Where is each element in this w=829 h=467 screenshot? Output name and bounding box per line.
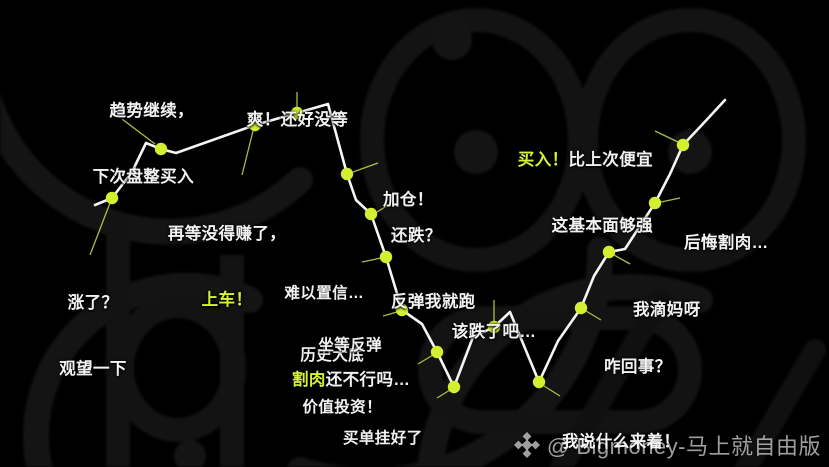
annotation-a11: 该跌了吧… bbox=[434, 278, 554, 388]
annotation-a15-line1: 后悔割肉… bbox=[684, 233, 769, 255]
annotation-a1-line1: 趋势继续， bbox=[34, 101, 194, 123]
annotation-a9-part2: 还不行吗… bbox=[326, 371, 411, 389]
annotation-a16-part2: 比上次便宜 bbox=[569, 151, 654, 169]
annotation-a11-line1: 该跌了吧… bbox=[434, 322, 554, 344]
binance-diamond-icon bbox=[514, 432, 540, 458]
annotation-a16-part1: 买入！ bbox=[518, 151, 569, 169]
annotation-a3-line1: 爽！还好没等 bbox=[230, 110, 365, 132]
leader-line-a16 bbox=[655, 131, 678, 142]
annotation-a16: 买入！比上次便宜 这基本面够强 bbox=[437, 106, 653, 282]
annotation-a14-line1: 我滴妈呀 bbox=[633, 300, 701, 322]
price-point-dot bbox=[575, 302, 587, 314]
annotation-a9-part1: 割肉 bbox=[292, 371, 326, 389]
annotation-a2-line1: 涨了？ bbox=[38, 293, 148, 315]
annotation-a15: 后悔割肉… bbox=[684, 189, 769, 299]
chart-canvas: 趋势继续， 下次盘整买入 涨了？ 观望一下 爽！还好没等 再等没得赚了， 上车！… bbox=[0, 0, 829, 467]
leader-line-a7 bbox=[362, 258, 381, 262]
annotation-a10: 买单挂好了 坐等抄底！ bbox=[343, 388, 423, 467]
annotation-a3: 爽！还好没等 bbox=[230, 66, 365, 176]
annotation-a10-line1: 买单挂好了 bbox=[343, 429, 423, 450]
annotation-a2: 涨了？ 观望一下 bbox=[38, 249, 148, 425]
leader-line-a13 bbox=[586, 311, 601, 320]
price-point-dot bbox=[365, 208, 377, 220]
annotation-a16-line2: 这基本面够强 bbox=[437, 216, 653, 238]
leader-line-a15 bbox=[661, 198, 680, 202]
leader-line-a10 bbox=[437, 390, 450, 398]
watermark-text: @ Bigmoney-马上就自由版 bbox=[547, 429, 821, 461]
annotation-a2-line2: 观望一下 bbox=[38, 359, 148, 381]
price-point-dot bbox=[677, 139, 689, 151]
channel-watermark: @ Bigmoney-马上就自由版 bbox=[514, 429, 821, 461]
